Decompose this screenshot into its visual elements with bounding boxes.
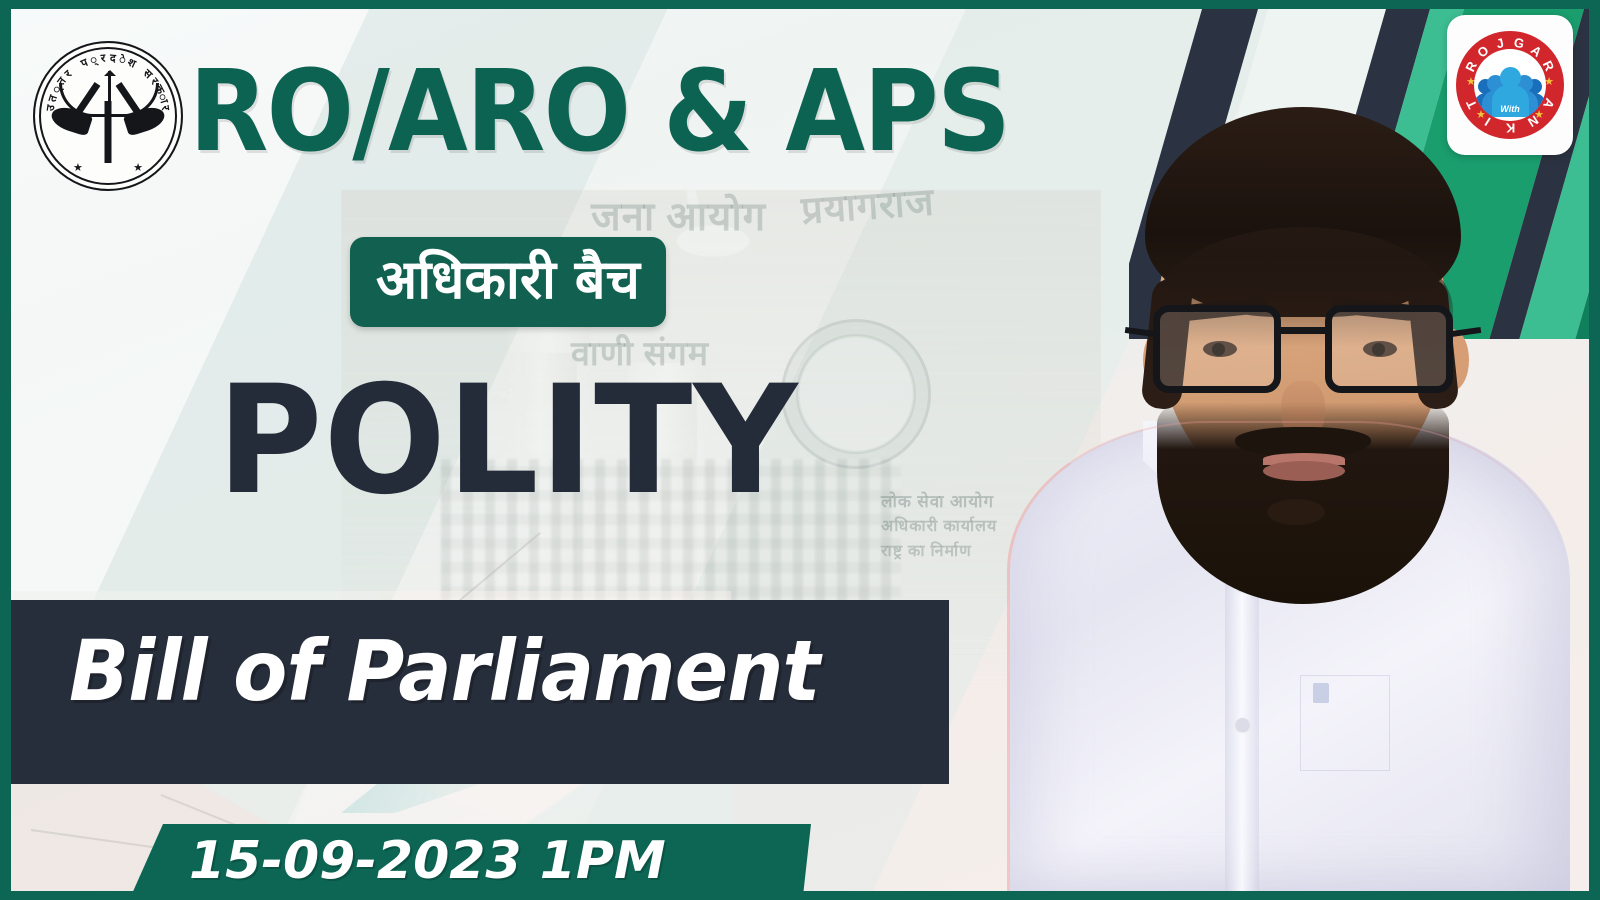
emblem-center-glyph xyxy=(105,101,112,163)
chin xyxy=(1267,499,1325,525)
glasses-temple-right xyxy=(1451,327,1482,337)
thumbnail-canvas: जना आयोग प्रयागराज वाणी संगम त्मक / अमृ … xyxy=(11,9,1589,891)
batch-badge: अधिकारी बैच xyxy=(350,237,666,327)
lens-left xyxy=(1153,305,1281,393)
logo-ring: ROJGAR ANKIT ★ ★ ★ ★ xyxy=(1456,31,1564,139)
mouth xyxy=(1263,461,1345,481)
topic-label: Bill of Parliament xyxy=(69,629,819,713)
glasses-bridge xyxy=(1281,327,1327,334)
star-icon: ★ xyxy=(73,161,83,174)
star-icon: ★ xyxy=(133,161,143,174)
up-government-emblem-icon: उत्तर प्रदेश सरकार ★ ★ xyxy=(33,41,183,191)
youtube-thumbnail: जना आयोग प्रयागराज वाणी संगम त्मक / अमृ … xyxy=(0,0,1600,900)
shirt-button xyxy=(1236,718,1249,731)
subject-title: POLITY xyxy=(217,366,799,516)
page-title: RO/ARO & APS xyxy=(189,59,1009,167)
logo-people-icon: With xyxy=(1474,49,1546,121)
channel-logo: ROJGAR ANKIT ★ ★ ★ ★ xyxy=(1447,15,1573,155)
shirt-pocket-tag xyxy=(1313,683,1329,703)
background-hindi-text: जना आयोग xyxy=(591,187,766,242)
eyeglasses-icon xyxy=(1153,305,1453,401)
schedule-datetime: 15-09-2023 1PM xyxy=(189,835,666,887)
lens-right xyxy=(1325,305,1453,393)
logo-with-label: With xyxy=(1474,104,1546,114)
